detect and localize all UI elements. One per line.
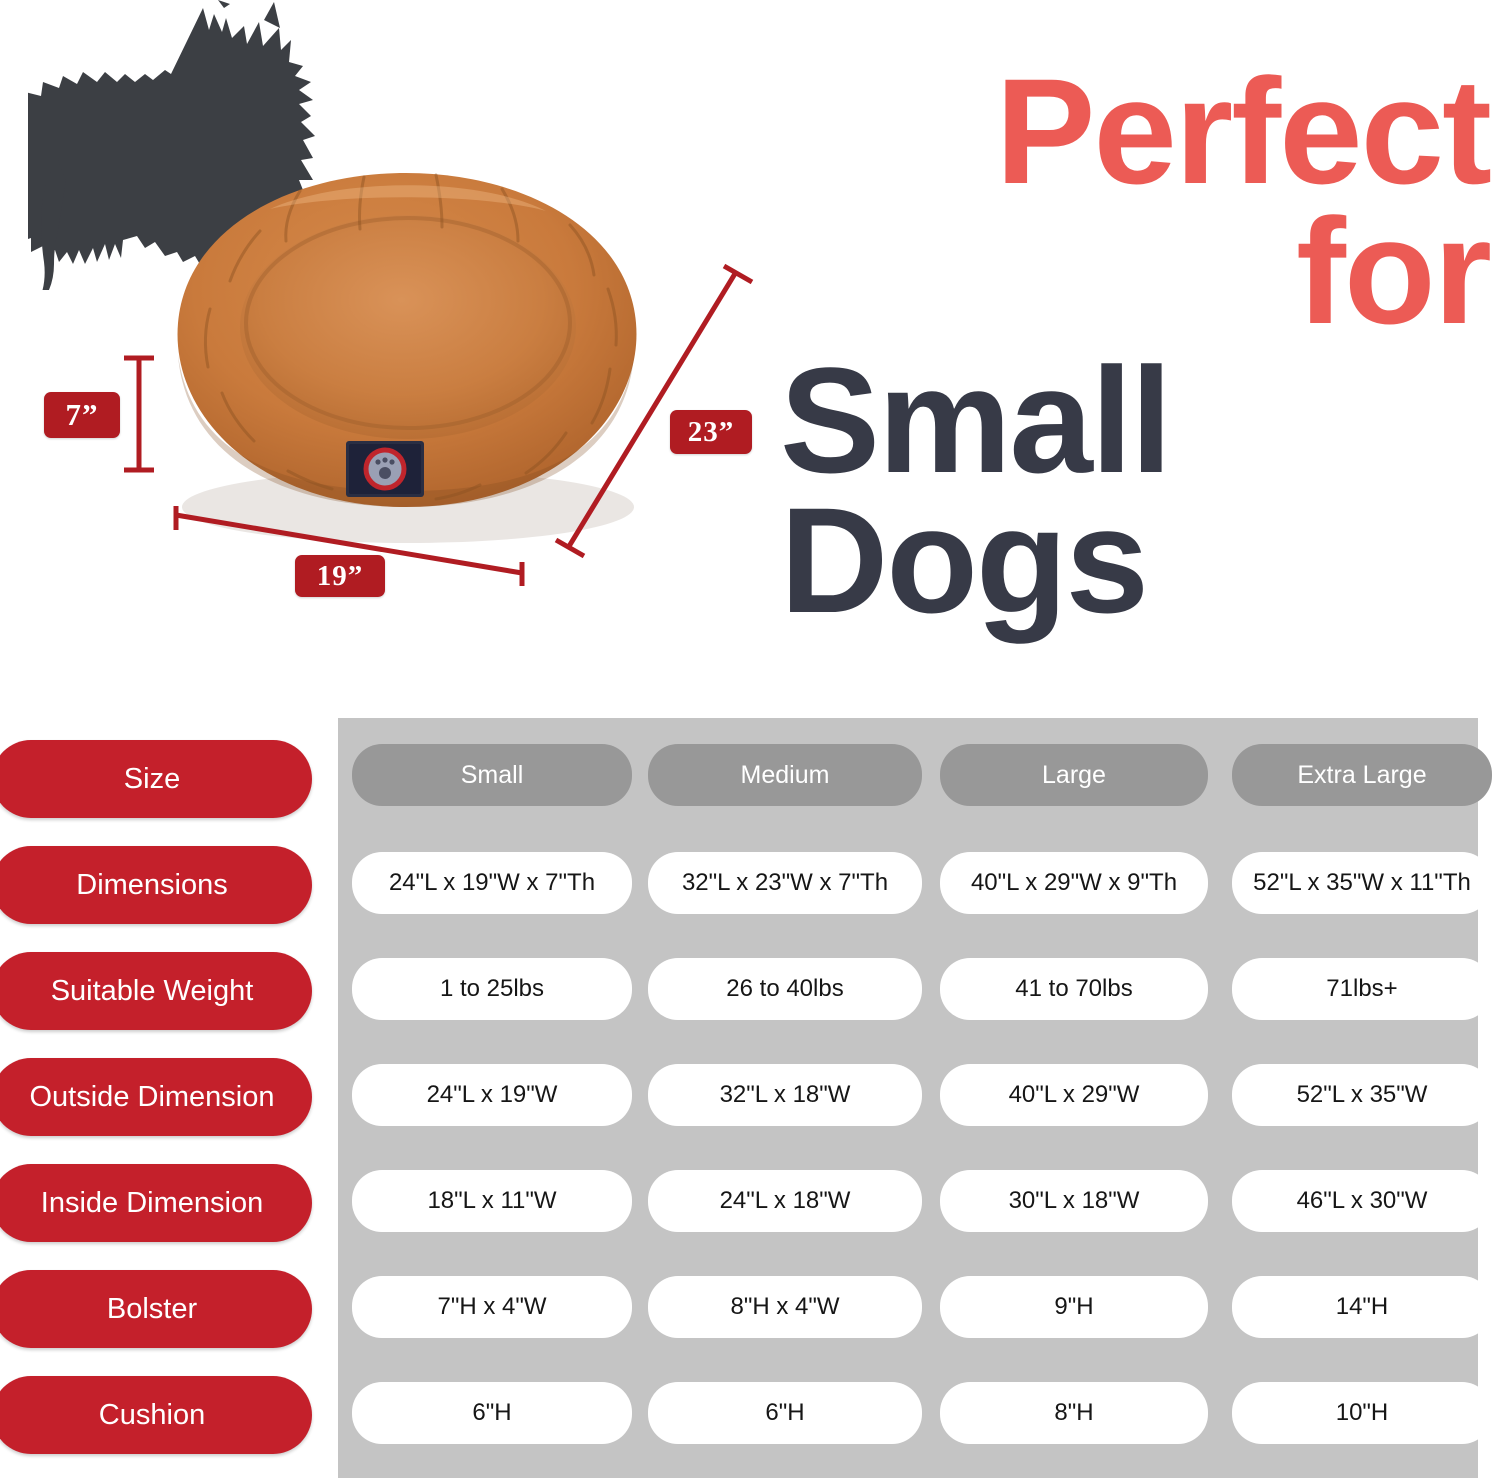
spec-column-header-small: Small: [352, 744, 632, 806]
headline-line-2: Small: [770, 351, 1490, 491]
spec-cell: 71lbs+: [1232, 958, 1492, 1020]
spec-row-label-bolster: Bolster: [0, 1270, 312, 1348]
spec-cell: 26 to 40lbs: [648, 958, 922, 1020]
spec-cell: 6"H: [648, 1382, 922, 1444]
spec-cell: 52"L x 35"W: [1232, 1064, 1492, 1126]
spec-cell: 41 to 70lbs: [940, 958, 1208, 1020]
headline-line-1: Perfect for: [770, 62, 1490, 341]
spec-row-label-suitable-weight: Suitable Weight: [0, 952, 312, 1030]
spec-cell: 32"L x 23"W x 7"Th: [648, 852, 922, 914]
spec-column-header-large: Large: [940, 744, 1208, 806]
spec-column-header-extra-large: Extra Large: [1232, 744, 1492, 806]
spec-cell: 7"H x 4"W: [352, 1276, 632, 1338]
spec-cell: 30"L x 18"W: [940, 1170, 1208, 1232]
spec-cell: 32"L x 18"W: [648, 1064, 922, 1126]
spec-row-label-column: SizeDimensionsSuitable WeightOutside Dim…: [0, 700, 330, 1460]
spec-cell: 40"L x 29"W x 9"Th: [940, 852, 1208, 914]
spec-row-label-dimensions: Dimensions: [0, 846, 312, 924]
specification-table: SizeDimensionsSuitable WeightOutside Dim…: [0, 700, 1500, 1478]
spec-cell: 8"H x 4"W: [648, 1276, 922, 1338]
spec-cell: 24"L x 18"W: [648, 1170, 922, 1232]
spec-cell: 52"L x 35"W x 11"Th: [1232, 852, 1492, 914]
spec-cell: 1 to 25lbs: [352, 958, 632, 1020]
measurement-label-height: 7”: [44, 392, 120, 438]
spec-row-label-cushion: Cushion: [0, 1376, 312, 1454]
spec-column-header-medium: Medium: [648, 744, 922, 806]
brand-tag: [346, 441, 424, 497]
spec-cell: 8"H: [940, 1382, 1208, 1444]
measurement-label-length: 23”: [670, 410, 752, 454]
spec-row-label-size: Size: [0, 740, 312, 818]
spec-row-label-inside-dimension: Inside Dimension: [0, 1164, 312, 1242]
headline-line-3: Dogs: [770, 491, 1490, 631]
spec-cell: 18"L x 11"W: [352, 1170, 632, 1232]
spec-cell: 40"L x 29"W: [940, 1064, 1208, 1126]
dog-bed-product-image: [150, 155, 660, 555]
spec-row-label-outside-dimension: Outside Dimension: [0, 1058, 312, 1136]
spec-cell: 46"L x 30"W: [1232, 1170, 1492, 1232]
spec-cell: 9"H: [940, 1276, 1208, 1338]
spec-cell: 24"L x 19"W x 7"Th: [352, 852, 632, 914]
spec-cell: 10"H: [1232, 1382, 1492, 1444]
spec-cell: 6"H: [352, 1382, 632, 1444]
spec-cell: 24"L x 19"W: [352, 1064, 632, 1126]
hero-section: 7” 19” 23” Perfect for Small Dogs: [0, 0, 1500, 700]
hero-headline: Perfect for Small Dogs: [770, 62, 1490, 630]
spec-cell: 14"H: [1232, 1276, 1492, 1338]
measurement-label-width: 19”: [295, 555, 385, 597]
